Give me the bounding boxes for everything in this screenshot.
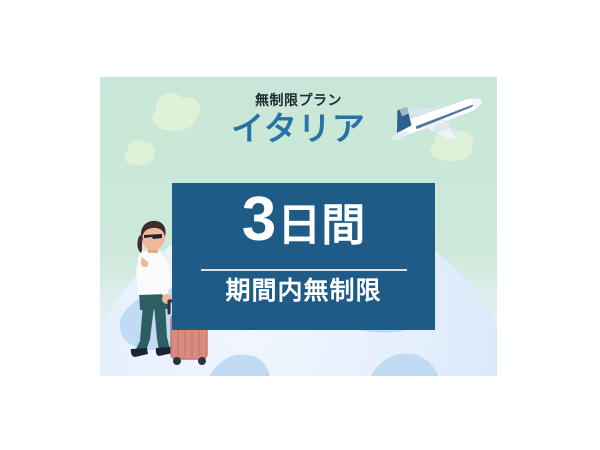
plan-type-label: 無制限プラン xyxy=(100,93,497,108)
panel-divider xyxy=(201,269,407,271)
plan-details-panel: 3 日間 期間内無制限 xyxy=(172,183,435,330)
duration-row: 3 日間 xyxy=(242,189,365,261)
duration-unit: 日間 xyxy=(277,204,365,248)
globe-landmass xyxy=(360,350,447,376)
headline-block: 無制限プラン イタリア xyxy=(100,93,497,148)
banner-root: 無制限プラン イタリア 3 日間 期間内無制限 xyxy=(0,0,600,450)
promo-banner-card: 無制限プラン イタリア 3 日間 期間内無制限 xyxy=(100,77,497,376)
panel-subtitle: 期間内無制限 xyxy=(225,278,381,306)
country-name: イタリア xyxy=(100,110,497,148)
cloud-icon xyxy=(124,149,154,165)
duration-number: 3 xyxy=(242,189,275,251)
